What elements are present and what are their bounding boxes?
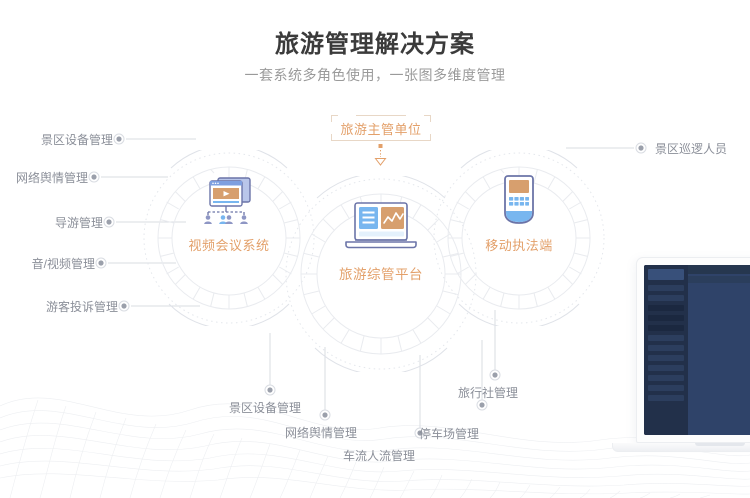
laptop-notch	[695, 443, 745, 446]
badge-corner-br	[424, 127, 431, 134]
dashboard-menu-item	[648, 285, 684, 291]
dashboard-tree	[688, 286, 750, 435]
badge-corner-top2	[406, 115, 424, 118]
dashboard-menu-item	[648, 395, 684, 401]
label-guide-management[interactable]: 导游管理	[0, 214, 103, 231]
dashboard-menu-item	[648, 355, 684, 361]
dashboard-brand	[648, 269, 684, 280]
label-scenic-equipment-bottom[interactable]: 景区设备管理	[229, 399, 301, 416]
badge-down-arrow	[376, 144, 386, 165]
laptop-base	[612, 443, 750, 452]
laptop-mockup	[636, 257, 750, 452]
node-video-conference[interactable]: 视频会议系统	[163, 172, 295, 304]
dashboard-tree-row	[691, 289, 750, 295]
label-network-opinion-bottom[interactable]: 网络舆情管理	[285, 424, 357, 441]
dashboard-menu-item	[648, 365, 684, 371]
label-scenic-patrol[interactable]: 景区巡逻人员	[655, 140, 727, 157]
label-audio-video[interactable]: 音/视频管理	[0, 255, 95, 272]
handheld-terminal-icon	[453, 172, 585, 228]
label-tourist-complaint[interactable]: 游客投诉管理	[0, 298, 118, 315]
node-label-video-conference: 视频会议系统	[163, 235, 295, 254]
node-label-mobile-enforcement: 移动执法端	[453, 235, 585, 254]
badge-corner-bl	[331, 127, 338, 134]
label-scenic-equipment-left[interactable]: 景区设备管理	[0, 131, 113, 148]
label-travel-agency[interactable]: 旅行社管理	[458, 384, 518, 401]
dashboard-menu-item	[648, 305, 684, 311]
node-mobile-enforcement[interactable]: 移动执法端	[453, 172, 585, 304]
dashboard-tabbar	[688, 276, 750, 283]
badge-corner-top	[338, 115, 356, 118]
label-parking[interactable]: 停车场管理	[419, 425, 479, 442]
dashboard-menu-item	[648, 295, 684, 301]
label-traffic-flow[interactable]: 车流人流管理	[343, 447, 415, 464]
dashboard-toolbar	[688, 265, 750, 274]
authority-badge[interactable]: 旅游主管单位	[331, 115, 431, 141]
video-window-icon	[163, 172, 295, 228]
dashboard-menu-item	[648, 325, 684, 331]
dashboard-menu-item	[648, 385, 684, 391]
dashboard-menu-item	[648, 345, 684, 351]
dashboard-body	[688, 286, 750, 435]
laptop-screen	[636, 257, 750, 443]
dashboard-main	[688, 265, 750, 435]
label-network-opinion-left[interactable]: 网络舆情管理	[0, 169, 88, 186]
dashboard-menu-item	[648, 335, 684, 341]
dashboard-menu-item-active	[648, 315, 684, 321]
tourism-solution-infographic: 旅游管理解决方案 一套系统多角色使用，一张图多维度管理	[0, 0, 750, 498]
dashboard-menu-item	[648, 375, 684, 381]
admin-dashboard-preview	[644, 265, 750, 435]
dashboard-sidebar	[644, 265, 688, 435]
authority-badge-label: 旅游主管单位	[340, 119, 421, 138]
